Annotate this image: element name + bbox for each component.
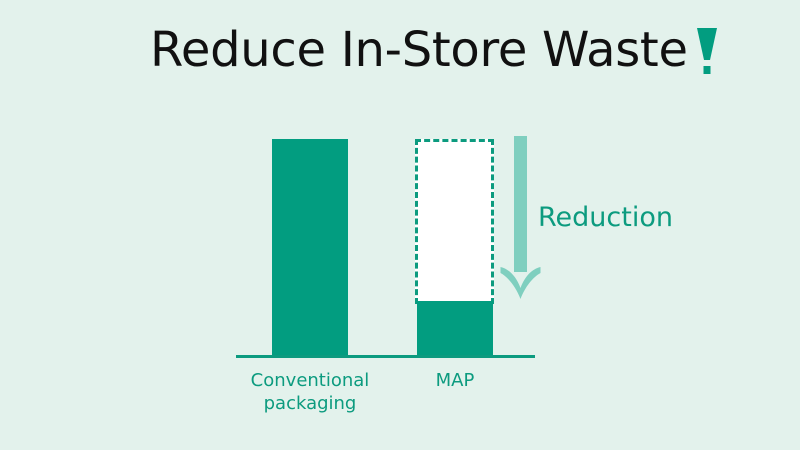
category-label-line-1: Conventional: [230, 370, 390, 393]
bar-conventional-packaging: [272, 139, 348, 356]
category-label-line-1: MAP: [400, 370, 510, 393]
category-label-map: MAP: [400, 370, 510, 393]
chart-baseline: [236, 355, 535, 358]
category-label-conventional-packaging: Conventional packaging: [230, 370, 390, 415]
bar-map: [417, 301, 493, 356]
bar-map-reference-outline: [415, 139, 494, 304]
bar-chart: Reduction Conventional packaging MAP: [0, 0, 800, 450]
poster-canvas: Reduce In-Store Waste Reduction Conventi…: [0, 0, 800, 450]
reduction-label: Reduction: [538, 204, 673, 231]
category-label-line-2: packaging: [230, 393, 390, 416]
